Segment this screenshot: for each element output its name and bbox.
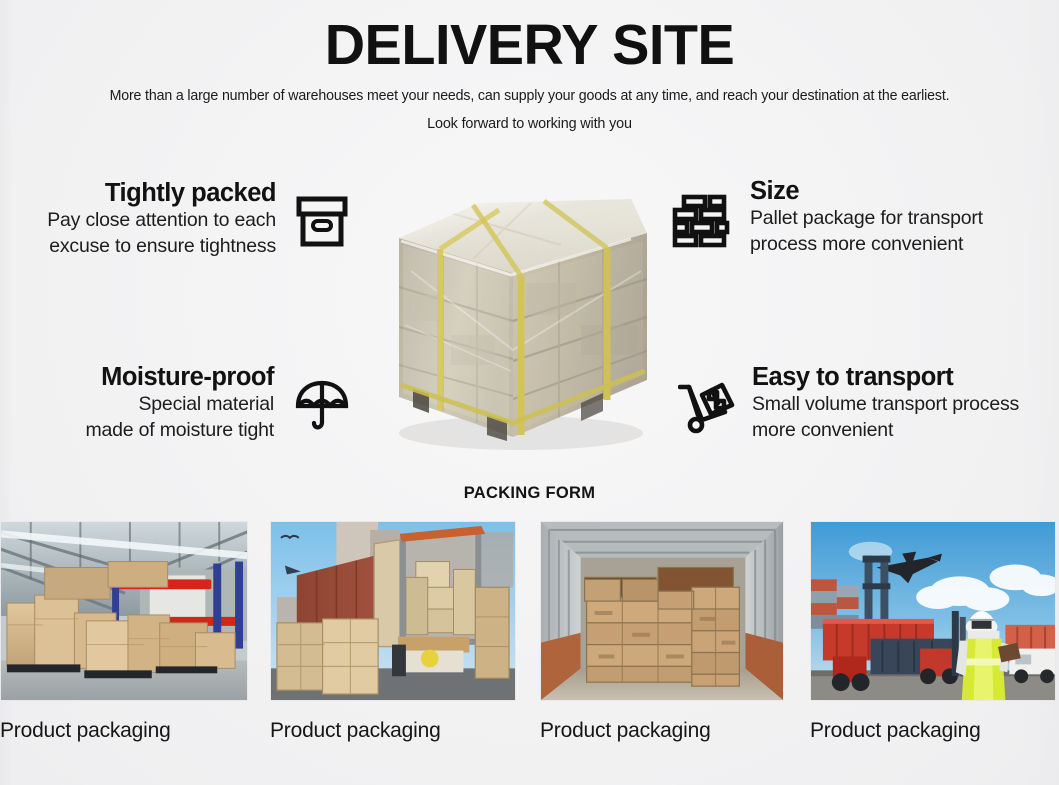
feature-desc-line1: Special material: [0, 392, 274, 418]
feature-desc-line1: Pay close attention to each: [0, 208, 276, 234]
thumbnail-warehouse-pallets[interactable]: [0, 521, 248, 701]
thumbnail-container-interior[interactable]: [540, 521, 784, 701]
feature-desc-line2: process more convenient: [750, 232, 1059, 258]
gallery-caption: Product packaging: [270, 718, 518, 744]
feature-desc-line1: Small volume transport process: [752, 392, 1059, 418]
page-title: DELIVERY SITE: [11, 14, 1049, 76]
thumbnail-container-loading[interactable]: [270, 521, 516, 701]
archive-box-icon: [294, 194, 350, 250]
feature-title: Tightly packed: [0, 178, 276, 208]
gallery-item[interactable]: Product packaging: [810, 521, 1058, 744]
feature-text-block: Moisture-proof Special material made of …: [0, 362, 274, 443]
feature-desc-line2: excuse to ensure tightness: [0, 234, 276, 260]
packing-form-heading: PACKING FORM: [0, 484, 1059, 503]
feature-desc-line2: more convenient: [752, 418, 1059, 444]
wrapped-pallet-image: [381, 175, 665, 460]
feature-title: Easy to transport: [752, 362, 1059, 392]
feature-desc-line1: Pallet package for transport: [750, 206, 1059, 232]
gallery-item[interactable]: Product packaging: [540, 521, 788, 744]
gallery-caption: Product packaging: [0, 718, 248, 744]
gallery-item[interactable]: Product packaging: [270, 521, 518, 744]
feature-desc-line2: made of moisture tight: [0, 418, 274, 444]
umbrella-icon: [294, 378, 350, 434]
header-subtitle-line2: Look forward to working with you: [0, 115, 1059, 134]
feature-title: Size: [750, 176, 1059, 206]
feature-easy-to-transport: Easy to transport Small volume transport…: [678, 362, 1059, 443]
brick-wall-icon: [672, 193, 730, 251]
gallery-caption: Product packaging: [540, 718, 788, 744]
feature-text-block: Tightly packed Pay close attention to ea…: [0, 178, 276, 259]
feature-tightly-packed: Tightly packed Pay close attention to ea…: [0, 178, 364, 259]
gallery-caption: Product packaging: [810, 718, 1058, 744]
feature-moisture-proof: Moisture-proof Special material made of …: [0, 362, 364, 443]
feature-size: Size Pallet package for transport proces…: [672, 176, 1059, 257]
packing-gallery: Product packaging: [0, 521, 1059, 771]
feature-text-block: Size Pallet package for transport proces…: [750, 176, 1059, 257]
header-subtitle-line1: More than a large number of warehouses m…: [8, 87, 1051, 106]
thumbnail-port-logistics[interactable]: [810, 521, 1056, 701]
feature-text-block: Easy to transport Small volume transport…: [752, 362, 1059, 443]
hand-truck-icon: [678, 379, 736, 437]
gallery-item[interactable]: Product packaging: [0, 521, 248, 744]
banner-page: DELIVERY SITE More than a large number o…: [0, 0, 1059, 785]
page-header: DELIVERY SITE More than a large number o…: [0, 14, 1059, 134]
feature-title: Moisture-proof: [0, 362, 274, 392]
